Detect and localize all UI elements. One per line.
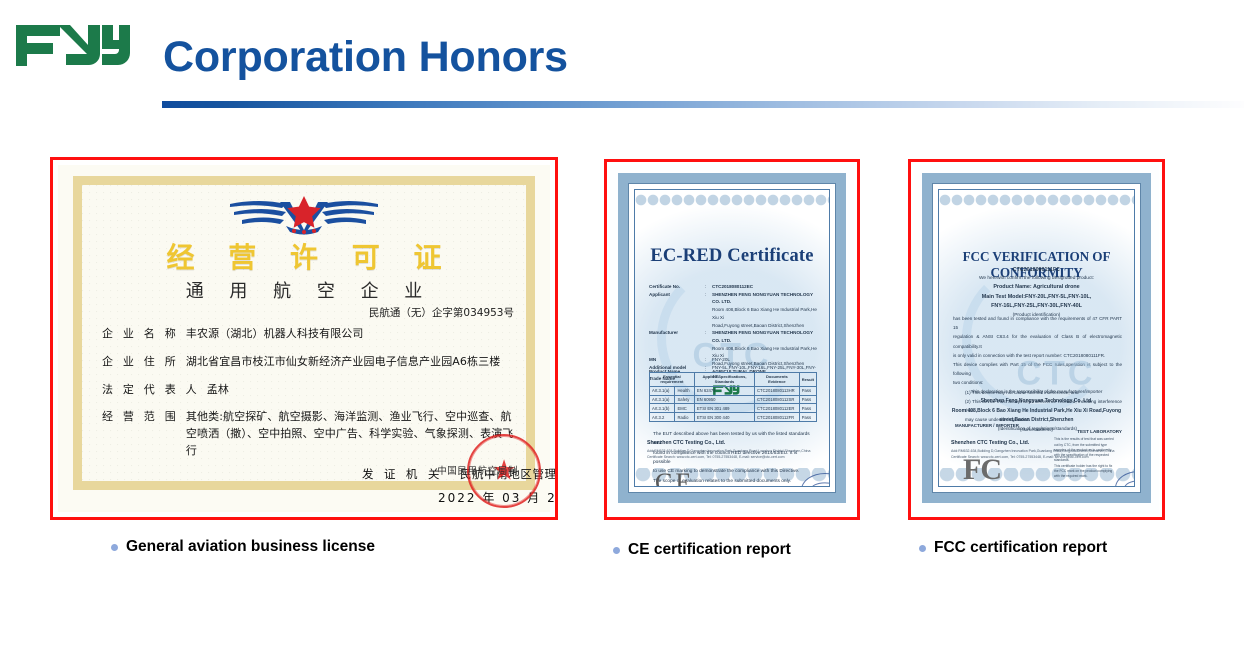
table-row: Art.3.1(a)HealthEN 62479CTC2018080113HRP… — [650, 386, 817, 395]
table-row: Art.3.1(a)SafetyEN 60950CTC2018080112SRP… — [650, 395, 817, 404]
table-cell: Radio — [675, 413, 694, 422]
table-cell: ETSI EN 301 489 — [694, 404, 754, 413]
field-label: 企 业 住 所 — [102, 353, 179, 369]
certificate-1-field-company-address: 企 业 住 所 湖北省宜昌市枝江市仙女新经济产业园电子信息产业园A6栋三楼 — [102, 353, 514, 370]
field-colon: : — [705, 283, 712, 291]
lab-line: with the required mark. — [1054, 474, 1122, 479]
field-key: MN — [649, 356, 705, 364]
certificate-2-face: CTC EC-RED Certificate Certificate No.:C… — [634, 189, 830, 487]
top-scallop-ornament — [939, 190, 1134, 206]
field-value: 湖北省宜昌市枝江市仙女新经济产业园电子信息产业园A6栋三楼 — [186, 353, 500, 370]
caption-ce-certification-report: CE certification report — [613, 541, 791, 559]
table-cell: EN 62479 — [694, 386, 754, 395]
table-cell: CTC2018080113HR — [755, 386, 800, 395]
certificate-1-serial-number: 民航通（无）企字第034953号 — [369, 305, 514, 320]
field-key: Certificate No. — [649, 283, 705, 291]
product-name: Product Name: Agricultural drone — [949, 283, 1124, 292]
ce-mark-icon: CE — [655, 468, 694, 487]
top-scallop-ornament — [635, 190, 829, 206]
confirm-line: We herewith confirm the following design… — [949, 275, 1124, 283]
page-title: Corporation Honors — [163, 33, 568, 82]
lab-heading: TEST LABORATORY — [1054, 428, 1122, 435]
footer-address: Add:RM632-634,Building D,Gangzhen Innova… — [647, 448, 819, 454]
body-line: has been tested and found in compliance … — [953, 314, 1122, 332]
blue-guilloche-border: FCC VERIFICATION OF CONFORMITY CTC201808… — [922, 173, 1151, 503]
certificate-2-title: EC-RED Certificate — [635, 246, 829, 267]
body-line: This device complies with Part 15 of the… — [953, 360, 1122, 378]
model-line-2: FNY-16L,FNY-25L,FNY-30L,FNY-40L — [949, 302, 1124, 311]
table-cell: Art.3.1(a) — [650, 386, 675, 395]
body-lines: has been tested and found in compliance … — [953, 314, 1122, 388]
footer-contact: Certificate Search: www.ctc-cert.com, Te… — [647, 454, 819, 460]
table-column-header: Result — [799, 373, 816, 387]
model-line-1: Main Test Model:FNY-20L,FNY-5L,FNY-10L, — [949, 293, 1124, 302]
body-line: two conditions: — [953, 378, 1122, 387]
certificate-3-footer: Shenzhen CTC Testing Co., Ltd. Add:RM632… — [951, 439, 1124, 460]
field-value: SHENZHEN FENG NONGYUAN TECHNOLOGY CO. LT… — [712, 329, 819, 344]
field-value: CTC2018080112EC — [712, 283, 819, 291]
table-cell: EN 60950 — [694, 395, 754, 404]
table-cell: CTC2018080112ER — [755, 404, 800, 413]
table-cell: Health — [675, 386, 694, 395]
certificate-3-product-block: CTC2018080111FC We herewith confirm the … — [949, 266, 1124, 320]
table-cell: Safety — [675, 395, 694, 404]
footer-contact: Certificate Search: www.ctc-cert.com, Te… — [951, 454, 1124, 460]
field-colon — [705, 322, 712, 330]
certificate-3-inner-frame: FCC VERIFICATION OF CONFORMITY CTC201808… — [914, 165, 1159, 514]
certificate-1-footer: 中国民用航空局制 — [437, 463, 518, 477]
responsibility-line: This declaration is the responsibility o… — [949, 388, 1124, 397]
field-label: 企 业 名 称 — [102, 325, 179, 341]
field-colon — [705, 306, 712, 321]
table-cell: CTC2018080112SR — [755, 395, 800, 404]
field-value: 孟林 — [207, 381, 229, 398]
issuer-label: 发 证 机 关 — [362, 467, 443, 481]
stamp-inner-text: APPROVED — [1124, 480, 1135, 487]
caption-label: CE certification report — [628, 541, 791, 559]
certificate-1-field-legal-representative: 法 定 代 表 人 孟林 — [102, 381, 514, 398]
table-cell: ETSI EN 300 440 — [694, 413, 754, 422]
fny-logo — [14, 19, 130, 71]
body-line: is only valid in connection with the tes… — [953, 351, 1122, 360]
stamp-inner-text: APPROVED — [810, 482, 830, 487]
certificate-2-inner-frame: CTC EC-RED Certificate Certificate No.:C… — [610, 165, 854, 514]
field-colon: : — [705, 356, 712, 364]
field-value: Road,Fuyong street,Baoan District,Shenzh… — [712, 322, 819, 330]
table-header-row: Essential requirementApplied Specificati… — [650, 373, 817, 387]
certificate-1-inner-frame: 经 营 许 可 证 通 用 航 空 企 业 民航通（无）企字第034953号 企… — [57, 164, 551, 513]
field-label: 法 定 代 表 人 — [102, 381, 200, 397]
blue-guilloche-border: CTC EC-RED Certificate Certificate No.:C… — [618, 173, 846, 503]
caption-label: General aviation business license — [126, 538, 375, 556]
footer-company: Shenzhen CTC Testing Co., Ltd. — [647, 439, 819, 448]
table-cell: Pass — [799, 395, 816, 404]
table-cell: Pass — [799, 413, 816, 422]
field-value: 丰农源（湖北）机器人科技有限公司 — [186, 325, 364, 342]
table-body: Art.3.1(a)HealthEN 62479CTC2018080113HRP… — [650, 386, 817, 421]
certificate-1-field-business-scope: 经 营 范 围 其他类:航空探矿、航空摄影、海洋监测、渔业飞行、空中巡查、航空喷… — [102, 408, 514, 459]
footer-address: Add:RM632-634,Building D,Gangzhen Innova… — [951, 448, 1124, 454]
field-key: Applicant — [649, 291, 705, 306]
footer-company: Shenzhen CTC Testing Co., Ltd. — [951, 439, 1124, 448]
field-value: Room 408,Block 6 Bao Xiang He Industrial… — [712, 306, 819, 321]
certificate-1-title-main: 经 营 许 可 证 — [82, 236, 526, 276]
bullet-dot-icon — [919, 545, 926, 552]
certificate-ce-certification-report[interactable]: CTC EC-RED Certificate Certificate No.:C… — [604, 159, 860, 520]
certificate-2-compliance-table: Essential requirementApplied Specificati… — [649, 372, 817, 422]
table-cell: Art.3.1(b) — [650, 404, 675, 413]
caption-label: FCC certification report — [934, 539, 1107, 557]
certificate-1-issue-date: 2022 年 03 月 28 日 — [438, 489, 558, 506]
table-cell: Pass — [799, 404, 816, 413]
table-column-header: Documents Evidence — [755, 373, 800, 387]
certificate-3-serial: CTC2018080111FC — [949, 266, 1124, 275]
certificate-2-footer: Shenzhen CTC Testing Co., Ltd. Add:RM632… — [647, 439, 819, 460]
caac-wings-star-emblem — [228, 192, 380, 241]
body-line: regulation & ANSI C63.4 for the evaluati… — [953, 332, 1122, 350]
certificate-2-field-row: Road,Fuyong street,Baoan District,Shenzh… — [649, 322, 819, 330]
table-cell: Art.3.2 — [650, 413, 675, 422]
bullet-dot-icon — [111, 544, 118, 551]
certificate-1-title-sub: 通 用 航 空 企 业 — [82, 277, 526, 303]
manufacturer-importer-label: MANUFACTURER / IMPORTER — [955, 423, 1019, 428]
table-cell: Pass — [799, 386, 816, 395]
certificate-2-field-row: Applicant:SHENZHEN FENG NONGYUAN TECHNOL… — [649, 291, 819, 306]
declaring-company: Shenzhen Feng Nongyuan Technology Co. Lt… — [949, 397, 1124, 407]
bullet-dot-icon — [613, 547, 620, 554]
field-value: 其他类:航空探矿、航空摄影、海洋监测、渔业飞行、空中巡查、航空喷洒（撒）、空中拍… — [186, 408, 514, 459]
field-key — [649, 306, 705, 321]
certificate-1-field-company-name: 企 业 名 称 丰农源（湖北）机器人科技有限公司 — [102, 325, 514, 342]
field-value: SHENZHEN FENG NONGYUAN TECHNOLOGY CO. LT… — [712, 291, 819, 306]
caption-fcc-certification-report: FCC certification report — [919, 539, 1107, 557]
caption-general-aviation-business-license: General aviation business license — [111, 538, 375, 556]
certificate-2-field-row: Manufacturer:SHENZHEN FENG NONGYUAN TECH… — [649, 329, 819, 344]
certificate-2-model-row: MN:FNY-20L — [649, 356, 819, 364]
table-cell: EMC — [675, 404, 694, 413]
certificate-fcc-certification-report[interactable]: FCC VERIFICATION OF CONFORMITY CTC201808… — [908, 159, 1165, 520]
table-row: Art.3.2RadioETSI EN 300 440CTC2018080112… — [650, 413, 817, 422]
table-cell: Art.3.1(a) — [650, 395, 675, 404]
field-key: Manufacturer — [649, 329, 705, 344]
table-column-header: Applied Specifications, Standards — [694, 373, 754, 387]
table-cell: CTC2018080112FR — [755, 413, 800, 422]
field-key — [649, 322, 705, 330]
certificate-general-aviation-business-license[interactable]: 经 营 许 可 证 通 用 航 空 企 业 民航通（无）企字第034953号 企… — [50, 157, 558, 520]
certificate-2-field-row: Certificate No.:CTC2018080112EC — [649, 283, 819, 291]
certificate-1-face: 经 营 许 可 证 通 用 航 空 企 业 民航通（无）企字第034953号 企… — [82, 185, 526, 481]
field-colon: : — [705, 291, 712, 306]
certificate-2-field-row: Room 408,Block 6 Bao Xiang He Industrial… — [649, 306, 819, 321]
table-row: Art.3.1(b)EMCETSI EN 301 489CTC201808011… — [650, 404, 817, 413]
certificate-3-face: FCC VERIFICATION OF CONFORMITY CTC201808… — [938, 189, 1135, 487]
field-colon: : — [705, 329, 712, 344]
field-value: FNY-20L — [712, 356, 730, 364]
declaring-address-1: Room 408,Block 6 Bao Xiang He Industrial… — [949, 407, 1124, 417]
table-column-header: Essential requirement — [650, 373, 695, 387]
field-label: 经 营 范 围 — [102, 408, 179, 424]
title-underline-rule — [162, 101, 1244, 108]
